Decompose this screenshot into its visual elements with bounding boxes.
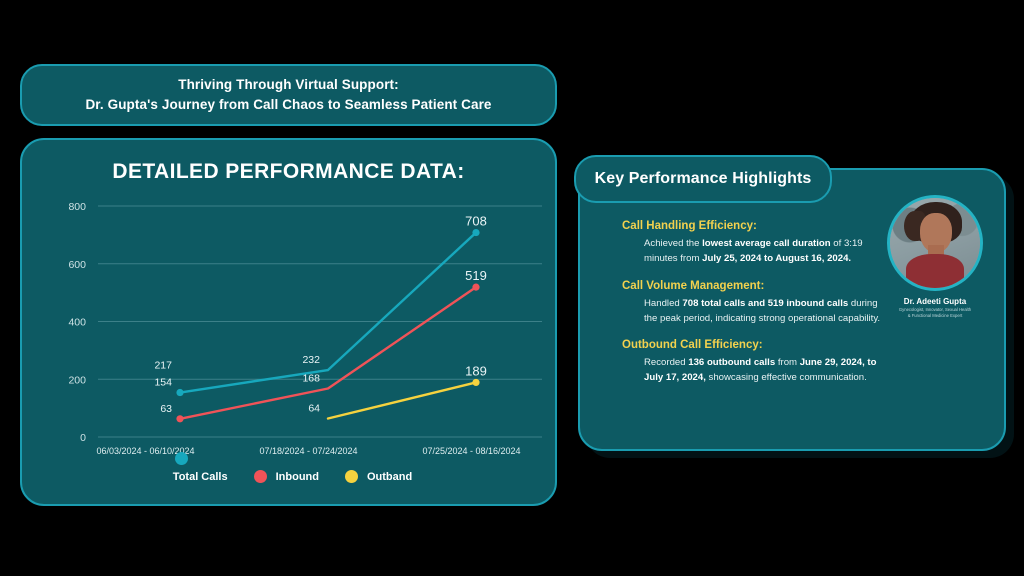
title-text: Thriving Through Virtual Support: Dr. Gu… [85, 75, 491, 114]
person-subtitle: Gynecologist, Innovator, Sexual Health &… [881, 307, 989, 320]
highlight-block: Call Volume Management:Handled 708 total… [622, 280, 890, 327]
y-axis-tick-label: 600 [68, 259, 86, 271]
y-axis-tick-label: 400 [68, 317, 86, 329]
person-card: Dr. Adeeti Gupta Gynecologist, Innovator… [881, 195, 989, 320]
title-line-2: Dr. Gupta's Journey from Call Chaos to S… [85, 95, 491, 115]
legend-item[interactable]: Outband [345, 470, 412, 483]
data-point-label: 708 [465, 214, 487, 229]
series-line [180, 287, 476, 419]
data-point-label: 168 [302, 372, 320, 384]
highlight-block: Call Handling Efficiency:Achieved the lo… [622, 220, 890, 267]
highlight-body-text: Achieved the lowest average call duratio… [622, 237, 890, 267]
x-axis-tick-labels: 06/03/2024 - 06/10/202407/18/2024 - 07/2… [22, 446, 559, 456]
y-axis-tick-label: 0 [80, 432, 86, 444]
highlight-heading: Outbound Call Efficiency: [622, 339, 890, 351]
series-line [328, 382, 476, 418]
legend-item[interactable]: Inbound [254, 470, 319, 483]
x-axis-tick-label: 07/18/2024 - 07/24/2024 [227, 446, 390, 456]
highlights-card: Call Handling Efficiency:Achieved the lo… [578, 168, 1006, 451]
legend-label: Outband [367, 471, 412, 483]
title-banner: Thriving Through Virtual Support: Dr. Gu… [20, 64, 557, 126]
legend-label: Total Calls [173, 471, 228, 483]
data-point [472, 229, 479, 236]
data-annotation-label: 217 [154, 360, 172, 372]
data-point-label: 64 [308, 403, 320, 415]
series-line [180, 233, 476, 393]
data-point-label: 63 [160, 403, 172, 415]
highlights-list: Call Handling Efficiency:Achieved the lo… [622, 220, 890, 399]
chart-card: DETAILED PERFORMANCE DATA: 0200400600800… [20, 138, 557, 506]
chart-svg: 02004006008001542327086316851964189217 [22, 192, 559, 452]
title-line-1: Thriving Through Virtual Support: [85, 75, 491, 95]
chart-title: DETAILED PERFORMANCE DATA: [22, 160, 555, 184]
highlight-body-text: Recorded 136 outbound calls from June 29… [622, 356, 890, 386]
data-point-label: 519 [465, 268, 487, 283]
highlight-heading: Call Handling Efficiency: [622, 220, 890, 232]
chart-legend: Total CallsInboundOutband [22, 470, 559, 483]
data-point [472, 284, 479, 291]
legend-item[interactable]: Total Calls [169, 471, 228, 483]
legend-color-swatch [175, 452, 188, 465]
data-point [472, 379, 479, 386]
person-name: Dr. Adeeti Gupta [881, 297, 989, 306]
y-axis-tick-label: 200 [68, 374, 86, 386]
legend-color-swatch [345, 470, 358, 483]
line-chart: 02004006008001542327086316851964189217 [22, 192, 559, 452]
x-axis-tick-label: 06/03/2024 - 06/10/2024 [64, 446, 227, 456]
highlights-tab[interactable]: Key Performance Highlights [574, 155, 832, 203]
data-point-label: 189 [465, 363, 487, 378]
y-axis-tick-label: 800 [68, 201, 86, 213]
highlights-tab-label: Key Performance Highlights [595, 170, 812, 188]
x-axis-tick-label: 07/25/2024 - 08/16/2024 [390, 446, 553, 456]
data-point-label: 232 [302, 354, 320, 366]
highlight-body-text: Handled 708 total calls and 519 inbound … [622, 297, 890, 327]
data-point-label: 154 [154, 377, 172, 389]
data-point [176, 415, 183, 422]
slide-canvas: Thriving Through Virtual Support: Dr. Gu… [0, 0, 1024, 576]
legend-label: Inbound [276, 471, 319, 483]
avatar [887, 195, 983, 291]
avatar-torso-icon [906, 254, 964, 288]
person-subtitle-line-2: & Functional Medicine Expert [881, 313, 989, 319]
data-point [176, 389, 183, 396]
highlight-heading: Call Volume Management: [622, 280, 890, 292]
legend-color-swatch [254, 470, 267, 483]
highlight-block: Outbound Call Efficiency:Recorded 136 ou… [622, 339, 890, 386]
